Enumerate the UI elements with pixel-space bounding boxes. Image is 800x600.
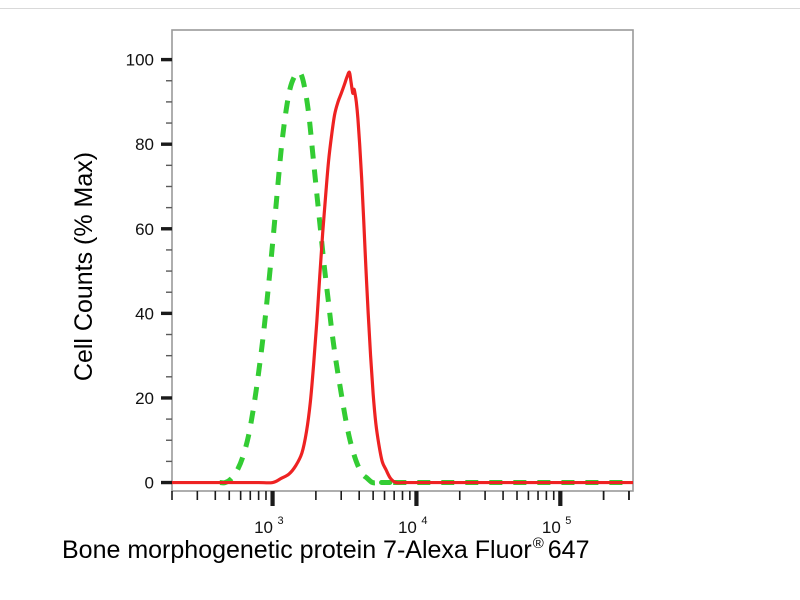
x-tick-label: 105 (542, 515, 572, 537)
y-tick-label: 80 (135, 135, 154, 154)
x-tick-label-base: 10 (254, 518, 273, 537)
y-tick-label: 20 (135, 389, 154, 408)
x-tick-label: 104 (398, 515, 428, 537)
y-tick-label: 100 (126, 51, 154, 70)
x-tick-label-exponent: 3 (278, 515, 284, 527)
y-axis-title: Cell Counts (% Max) (70, 152, 98, 381)
x-tick-label-exponent: 5 (565, 515, 571, 527)
x-axis-title-main: Bone morphogenetic protein 7-Alexa Fluor (62, 536, 532, 564)
x-axis-title-tail: 647 (548, 536, 590, 564)
plot-frame (172, 30, 633, 491)
y-tick-label: 60 (135, 220, 154, 239)
y-tick-label: 40 (135, 304, 154, 323)
x-tick-label-base: 10 (398, 518, 417, 537)
x-tick-label-base: 10 (542, 518, 561, 537)
x-axis-title-registered-mark: ® (533, 535, 544, 552)
x-tick-label-exponent: 4 (421, 515, 427, 527)
x-axis-title: Bone morphogenetic protein 7-Alexa Fluor… (62, 535, 590, 564)
y-tick-label: 0 (145, 474, 154, 493)
x-tick-label: 103 (254, 515, 284, 537)
histogram-plot: 020406080100103104105Cell Counts (% Max)… (0, 0, 800, 600)
flow-cytometry-figure: 020406080100103104105Cell Counts (% Max)… (0, 0, 800, 600)
